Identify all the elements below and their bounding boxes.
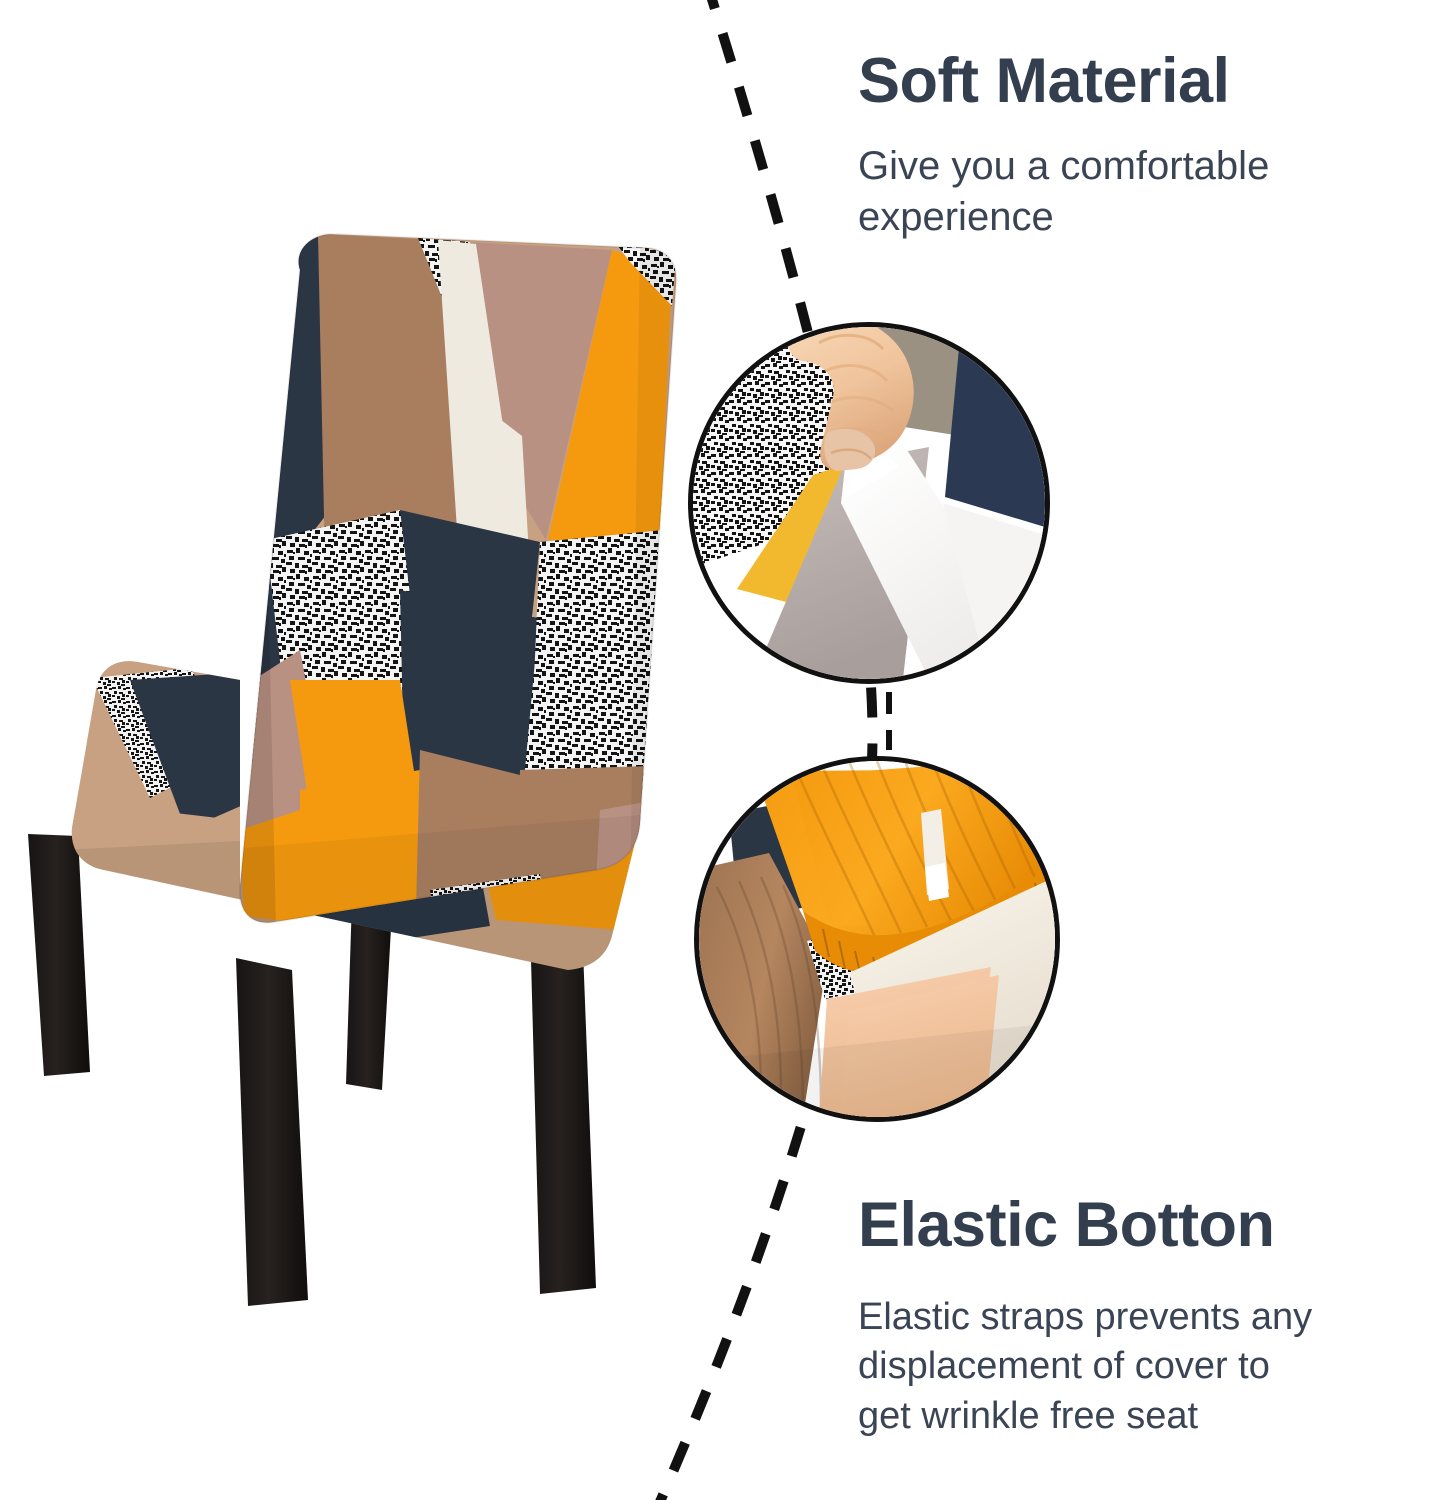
soft-material-headline: Soft Material: [858, 48, 1430, 115]
feature-block-soft-material: Soft Material Give you a comfortable exp…: [858, 48, 1430, 243]
soft-material-inset: [688, 322, 1050, 684]
chair-back-cover: [220, 220, 700, 940]
soft-material-description-line-2: experience: [858, 192, 1430, 243]
elastic-botton-description-line-3: get wrinkle free seat: [858, 1392, 1430, 1441]
feature-block-elastic-botton: Elastic Botton Elastic straps prevents a…: [858, 1192, 1430, 1441]
soft-material-description: Give you a comfortable experience: [858, 141, 1430, 243]
soft-material-description-line-1: Give you a comfortable: [858, 141, 1430, 192]
elastic-botton-description-line-1: Elastic straps prevents any: [858, 1293, 1430, 1342]
elastic-botton-description-line-2: displacement of cover to: [858, 1342, 1430, 1391]
infographic-canvas: Soft Material Give you a comfortable exp…: [0, 0, 1430, 1500]
elastic-botton-headline: Elastic Botton: [858, 1192, 1430, 1259]
feature-text-column: Soft Material Give you a comfortable exp…: [848, 0, 1430, 1500]
elastic-botton-description: Elastic straps prevents any displacement…: [858, 1293, 1430, 1441]
elastic-botton-inset: [694, 756, 1060, 1122]
chair-illustration: [0, 210, 710, 1330]
